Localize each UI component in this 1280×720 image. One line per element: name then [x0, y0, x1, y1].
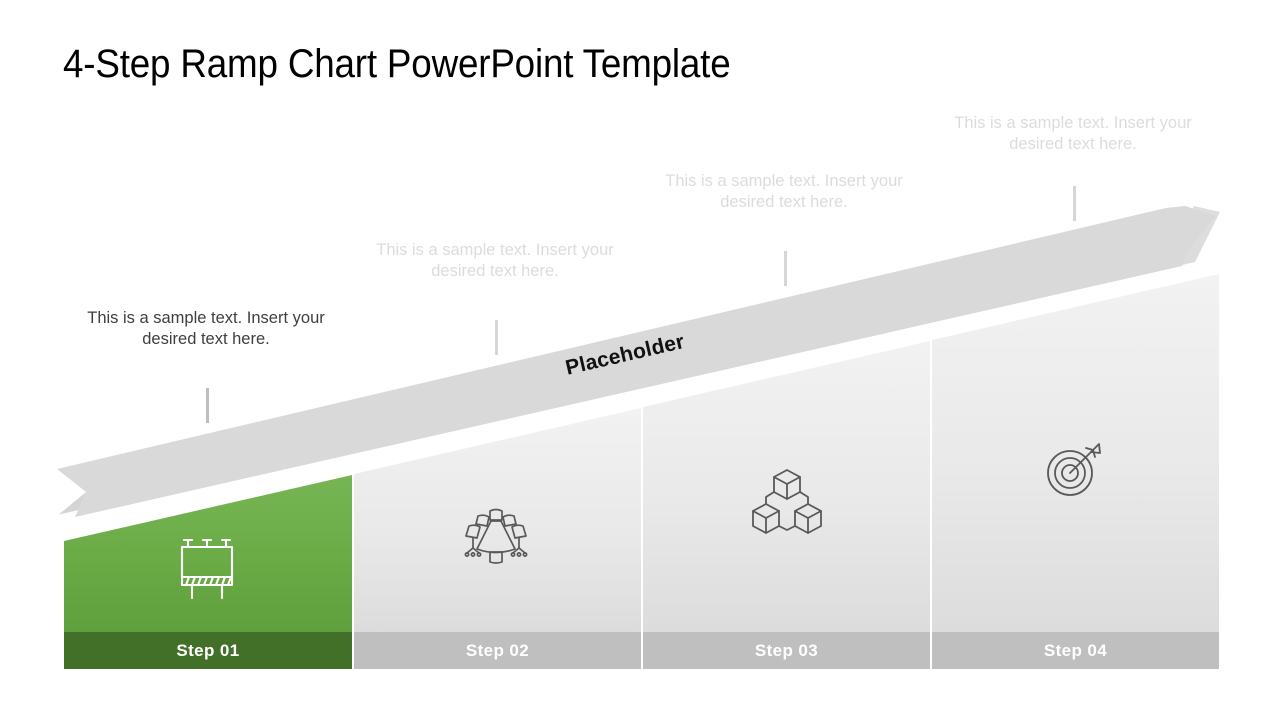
step-label-1[interactable]: Step 01	[64, 641, 352, 661]
step-label-2[interactable]: Step 02	[354, 641, 641, 661]
step-connector-2	[495, 320, 498, 355]
conference-table-icon	[461, 505, 531, 567]
step-label-4[interactable]: Step 04	[932, 641, 1219, 661]
step-connector-3	[784, 251, 787, 286]
slide-canvas: 4-Step Ramp Chart PowerPoint Template	[0, 0, 1280, 720]
step-connector-4	[1073, 186, 1076, 221]
billboard-icon	[173, 536, 241, 602]
cubes-icon	[752, 466, 822, 538]
step-label-3[interactable]: Step 03	[643, 641, 930, 661]
target-arrow-icon	[1042, 437, 1106, 501]
step-connector-1	[206, 388, 209, 423]
